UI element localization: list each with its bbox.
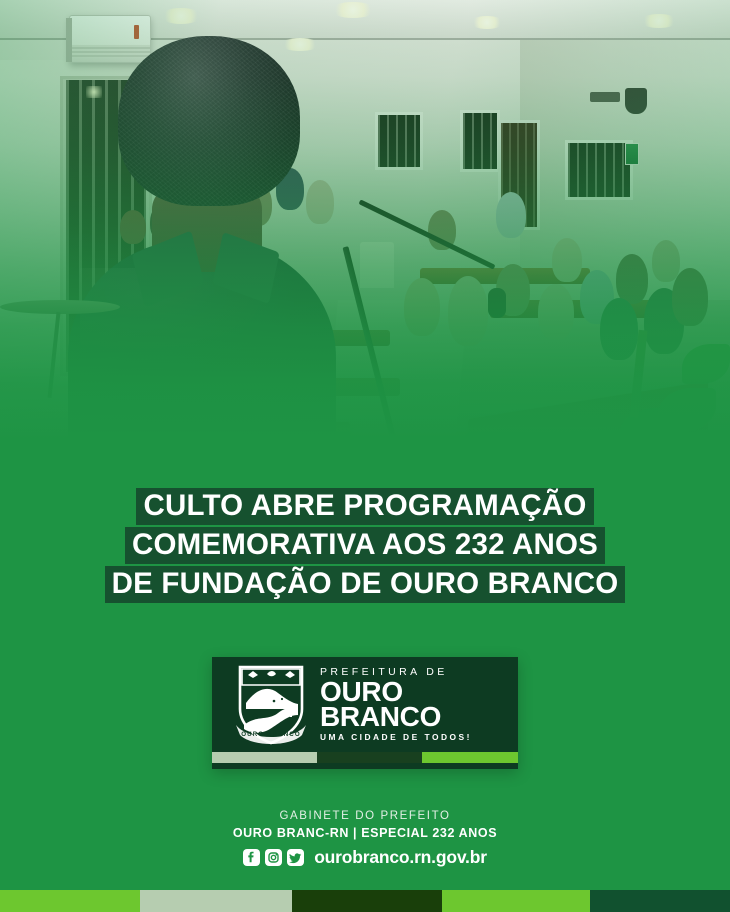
footer-social-row: ourobranco.rn.gov.br — [0, 847, 730, 868]
bottom-color-bars — [0, 890, 730, 912]
logo-accent-segment-1 — [212, 752, 317, 763]
bottom-bar-segment-2 — [140, 890, 292, 912]
logo-accent-segment-3 — [422, 752, 518, 763]
crest-ribbon-text: OURO BRANCO — [241, 731, 301, 738]
footer-line-1: GABINETE DO PREFEITO — [0, 808, 730, 824]
facebook-icon[interactable] — [243, 849, 260, 866]
event-photo — [0, 0, 730, 480]
logo-accent-bar — [212, 752, 518, 763]
headline-line-3: DE FUNDAÇÃO DE OURO BRANCO — [105, 566, 626, 603]
logo-name-line-2: BRANCO — [320, 704, 472, 729]
footer-line-2: OURO BRANC-RN | ESPECIAL 232 ANOS — [0, 824, 730, 842]
headline: CULTO ABRE PROGRAMAÇÃO COMEMORATIVA AOS … — [0, 488, 730, 605]
footer: GABINETE DO PREFEITO OURO BRANC-RN | ESP… — [0, 808, 730, 868]
city-hall-logo-card: OURO BRANCO PREFEITURA DE OURO BRANCO UM… — [212, 657, 518, 769]
logo-wordmark: PREFEITURA DE OURO BRANCO UMA CIDADE DE … — [320, 666, 472, 744]
bottom-bar-segment-1 — [0, 890, 140, 912]
green-side-overlay — [0, 0, 730, 480]
logo-inner: OURO BRANCO PREFEITURA DE OURO BRANCO UM… — [212, 657, 518, 753]
bottom-bar-segment-5 — [590, 890, 730, 912]
bottom-bar-segment-3 — [292, 890, 442, 912]
logo-tagline: UMA CIDADE DE TODOS! — [320, 731, 472, 744]
coat-of-arms-icon: OURO BRANCO — [234, 663, 308, 747]
instagram-icon[interactable] — [265, 849, 282, 866]
bottom-bar-segment-4 — [442, 890, 590, 912]
twitter-icon[interactable] — [287, 849, 304, 866]
headline-line-1: CULTO ABRE PROGRAMAÇÃO — [136, 488, 593, 525]
headline-line-2: COMEMORATIVA AOS 232 ANOS — [125, 527, 605, 564]
logo-accent-segment-2 — [317, 752, 422, 763]
website-url[interactable]: ourobranco.rn.gov.br — [314, 847, 487, 868]
poster: CULTO ABRE PROGRAMAÇÃO COMEMORATIVA AOS … — [0, 0, 730, 912]
